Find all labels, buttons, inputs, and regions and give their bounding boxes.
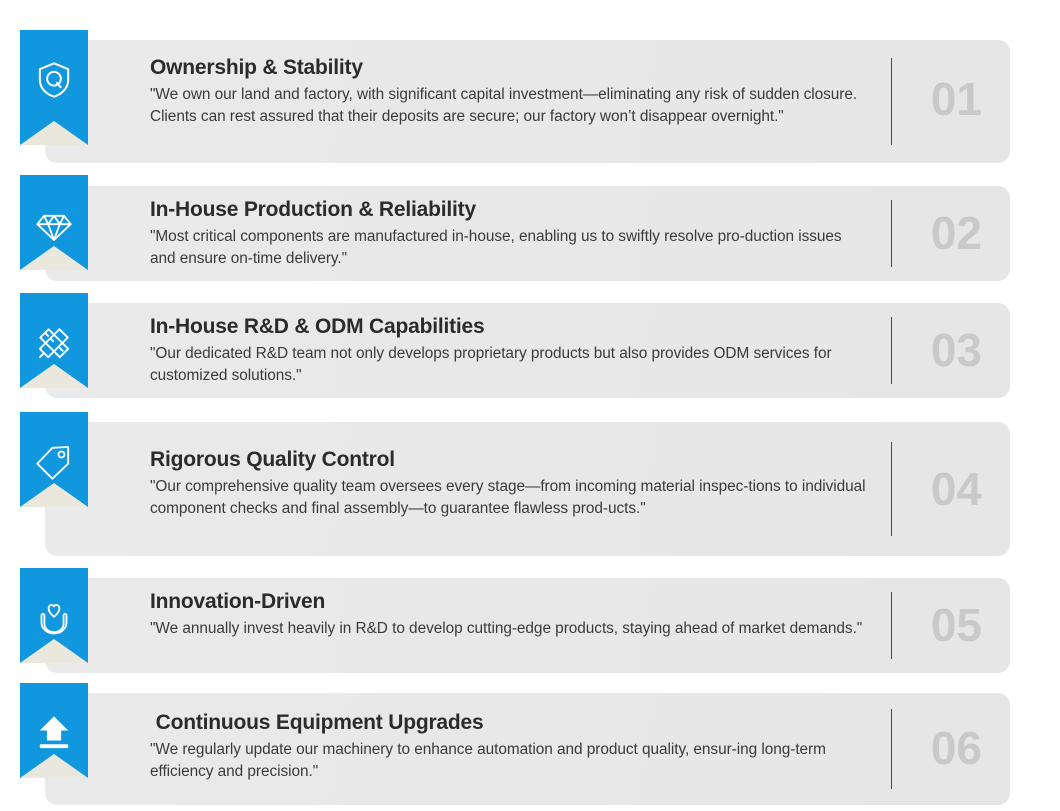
- card-title: Rigorous Quality Control: [150, 448, 870, 473]
- ribbon-notch: [20, 639, 88, 663]
- ribbon-notch: [20, 483, 88, 507]
- card-description: "We own our land and factory, with signi…: [150, 84, 870, 128]
- number-divider: [891, 442, 892, 536]
- price-tag-icon: [34, 442, 74, 482]
- card-badge-ribbon: [20, 568, 88, 663]
- shield-q-icon: [34, 60, 74, 100]
- card-title: Innovation-Driven: [150, 590, 870, 615]
- feature-card: In-House R&D & ODM Capabilities "Our ded…: [45, 303, 1010, 398]
- feature-card: Innovation-Driven "We annually invest he…: [45, 578, 1010, 673]
- card-text-block: Continuous Equipment Upgrades "We regula…: [150, 711, 870, 783]
- card-description: "We annually invest heavily in R&D to de…: [150, 618, 870, 640]
- feature-card: Continuous Equipment Upgrades "We regula…: [45, 693, 1010, 805]
- heart-in-hands-icon: [34, 598, 74, 638]
- number-divider: [891, 317, 892, 384]
- card-badge-ribbon: [20, 293, 88, 388]
- card-description: "Our comprehensive quality team oversees…: [150, 476, 870, 520]
- feature-card: Ownership & Stability "We own our land a…: [45, 40, 1010, 163]
- card-number: 01: [931, 76, 982, 122]
- card-title: In-House R&D & ODM Capabilities: [150, 315, 870, 340]
- number-divider: [891, 200, 892, 267]
- card-title: Ownership & Stability: [150, 56, 870, 81]
- feature-card: In-House Production & Reliability "Most …: [45, 186, 1010, 281]
- number-divider: [891, 592, 892, 659]
- card-text-block: Innovation-Driven "We annually invest he…: [150, 590, 870, 640]
- card-description: "We regularly update our machinery to en…: [150, 739, 870, 783]
- ribbon-notch: [20, 246, 88, 270]
- card-title: Continuous Equipment Upgrades: [150, 711, 870, 736]
- ribbon-notch: [20, 364, 88, 388]
- card-title: In-House Production & Reliability: [150, 198, 870, 223]
- diamond-icon: [34, 205, 74, 245]
- number-divider: [891, 58, 892, 145]
- card-number: 02: [931, 210, 982, 256]
- ribbon-notch: [20, 121, 88, 145]
- card-number: 04: [931, 466, 982, 512]
- card-description: "Our dedicated R&D team not only develop…: [150, 343, 870, 387]
- number-divider: [891, 709, 892, 789]
- card-description: "Most critical components are manufactur…: [150, 226, 870, 270]
- card-number: 03: [931, 327, 982, 373]
- card-text-block: Ownership & Stability "We own our land a…: [150, 56, 870, 128]
- card-text-block: In-House R&D & ODM Capabilities "Our ded…: [150, 315, 870, 387]
- card-badge-ribbon: [20, 412, 88, 507]
- card-number: 05: [931, 602, 982, 648]
- card-text-block: In-House Production & Reliability "Most …: [150, 198, 870, 270]
- pen-ruler-icon: [34, 323, 74, 363]
- card-number: 06: [931, 725, 982, 771]
- feature-list-board: Ownership & Stability "We own our land a…: [0, 0, 1060, 811]
- card-text-block: Rigorous Quality Control "Our comprehens…: [150, 448, 870, 520]
- card-badge-ribbon: [20, 683, 88, 778]
- card-badge-ribbon: [20, 175, 88, 270]
- ribbon-notch: [20, 754, 88, 778]
- feature-card: Rigorous Quality Control "Our comprehens…: [45, 422, 1010, 556]
- card-badge-ribbon: [20, 30, 88, 145]
- upload-arrow-icon: [34, 713, 74, 753]
